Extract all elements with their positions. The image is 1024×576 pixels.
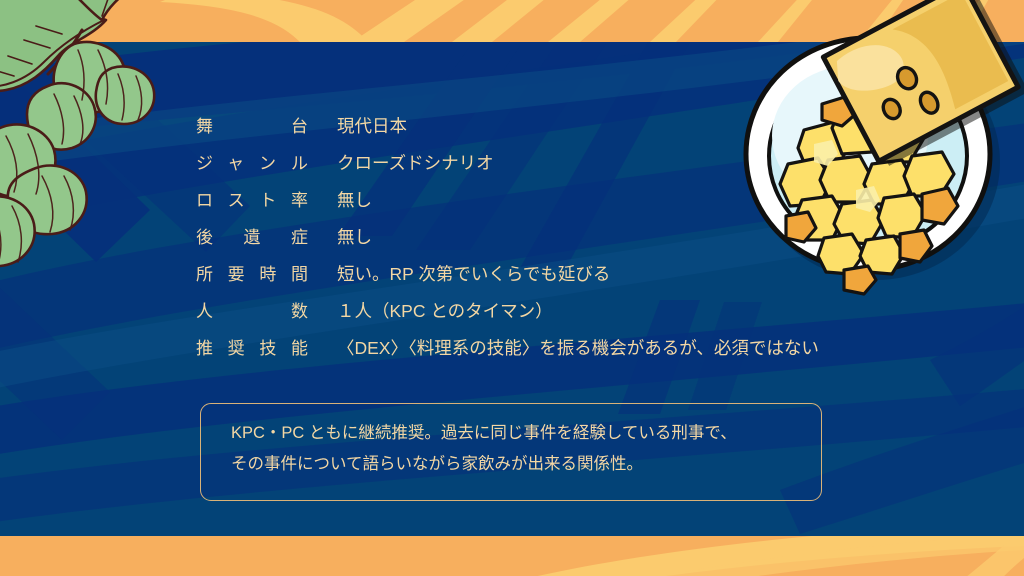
bottom-bar-stripes <box>0 536 1024 576</box>
note-line-1: KPC・PC ともに継続推奨。過去に同じ事件を経験している刑事で、 <box>231 418 791 449</box>
note-box: KPC・PC ともに継続推奨。過去に同じ事件を経験している刑事で、 その事件につ… <box>200 403 822 501</box>
table-row: 舞台 現代日本 <box>196 108 876 145</box>
bottom-accent-bar <box>0 536 1024 576</box>
spec-label-lost-rate: ロスト率 <box>196 182 308 219</box>
spec-value-recommended-skills: 〈DEX〉〈料理系の技能〉を振る機会があるが、必須ではない <box>337 330 819 367</box>
spec-label-genre: ジャンル <box>196 145 308 182</box>
spec-label-recommended-skills: 推奨技能 <box>196 330 308 367</box>
spec-value-duration: 短い。RP 次第でいくらでも延びる <box>337 256 610 293</box>
hop-plant-illustration <box>0 0 196 282</box>
spec-label-duration: 所要時間 <box>196 256 308 293</box>
table-row: ジャンル クローズドシナリオ <box>196 145 876 182</box>
spec-value-lost-rate: 無し <box>337 182 372 219</box>
table-row: 後遺症 無し <box>196 219 876 256</box>
hop-plant-svg <box>0 0 196 282</box>
spec-value-genre: クローズドシナリオ <box>337 145 494 182</box>
spec-label-player-count: 人数 <box>196 293 308 330</box>
spec-value-stage: 現代日本 <box>337 108 407 145</box>
table-row: 所要時間 短い。RP 次第でいくらでも延びる <box>196 256 876 293</box>
spec-label-aftereffects: 後遺症 <box>196 219 308 256</box>
spec-label-stage: 舞台 <box>196 108 308 145</box>
scenario-spec-table: 舞台 現代日本 ジャンル クローズドシナリオ ロスト率 無し 後遺症 無し 所要… <box>196 108 876 367</box>
table-row: 推奨技能 〈DEX〉〈料理系の技能〉を振る機会があるが、必須ではない <box>196 330 876 367</box>
spec-value-player-count: １人（KPC とのタイマン） <box>337 293 553 330</box>
spec-value-aftereffects: 無し <box>337 219 372 256</box>
note-line-2: その事件について語らいながら家飲みが出来る関係性。 <box>231 449 791 480</box>
slide-canvas: 舞台 現代日本 ジャンル クローズドシナリオ ロスト率 無し 後遺症 無し 所要… <box>0 0 1024 576</box>
table-row: 人数 １人（KPC とのタイマン） <box>196 293 876 330</box>
table-row: ロスト率 無し <box>196 182 876 219</box>
